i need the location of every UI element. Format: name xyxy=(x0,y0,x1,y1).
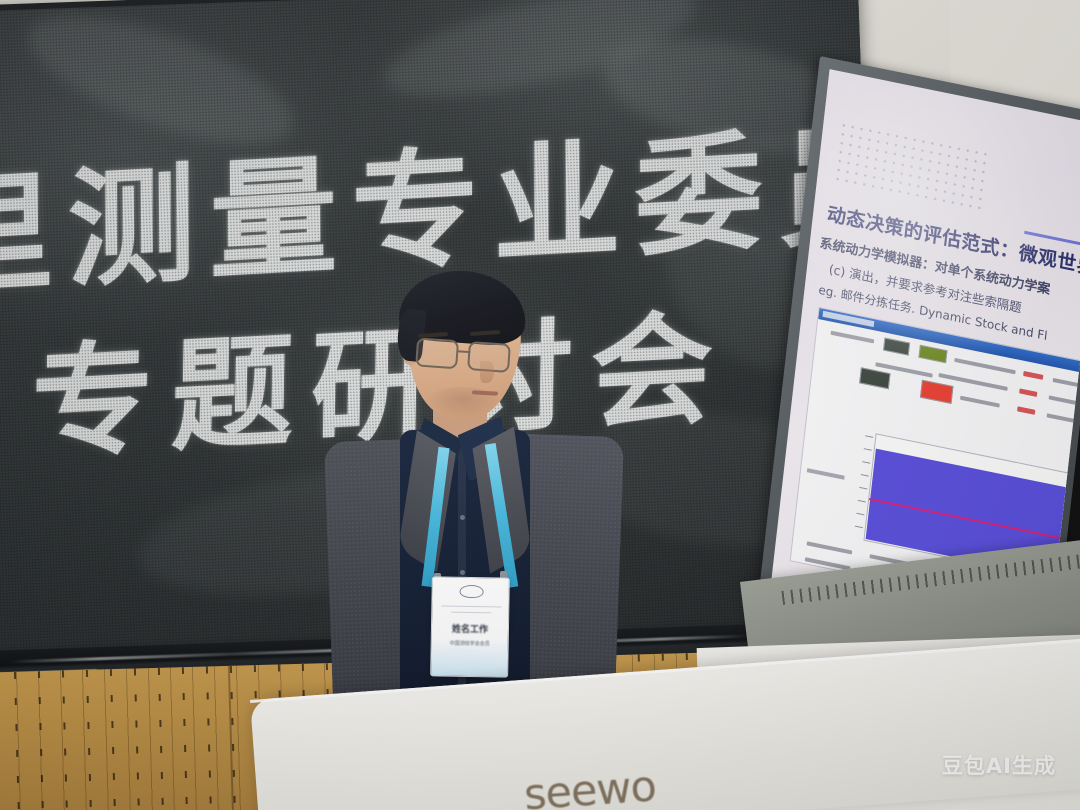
badge-logo-icon xyxy=(460,585,484,598)
app-label xyxy=(1053,378,1080,389)
shirt-button xyxy=(460,570,465,575)
lectern-brand-logo: seewo xyxy=(522,761,657,810)
badge-name-text: 姓名工作 xyxy=(432,621,508,635)
swatch-red xyxy=(920,380,954,404)
badge-subtitle-text: 中国测绘学会会员 xyxy=(432,639,508,647)
app-label xyxy=(960,396,1000,408)
swatch-dark xyxy=(883,338,910,356)
plot-y-axis-label xyxy=(807,468,845,480)
ai-watermark: 豆包AI生成 xyxy=(942,750,1056,780)
swatch-green xyxy=(918,345,947,364)
shirt-button xyxy=(460,515,465,520)
slide-dot-pattern xyxy=(833,120,988,212)
app-value-red xyxy=(1019,388,1037,397)
app-value-red xyxy=(1023,371,1043,380)
photo-scene: 里测量专业委员会 专题研讨会 动态决策的评估范式：微观世界 系统动力学模拟器：对… xyxy=(0,0,1080,810)
app-label xyxy=(831,331,875,344)
glasses-bridge xyxy=(457,350,470,353)
name-badge: 姓名工作 中国测绘学会会员 xyxy=(430,576,510,677)
app-value-red xyxy=(1017,406,1035,415)
nose xyxy=(480,361,494,383)
swatch-dark xyxy=(859,367,890,389)
badge-divider xyxy=(451,612,491,614)
app-label xyxy=(954,358,1015,374)
app-label xyxy=(807,541,853,554)
lens-left xyxy=(415,337,459,369)
badge-divider xyxy=(441,605,501,607)
